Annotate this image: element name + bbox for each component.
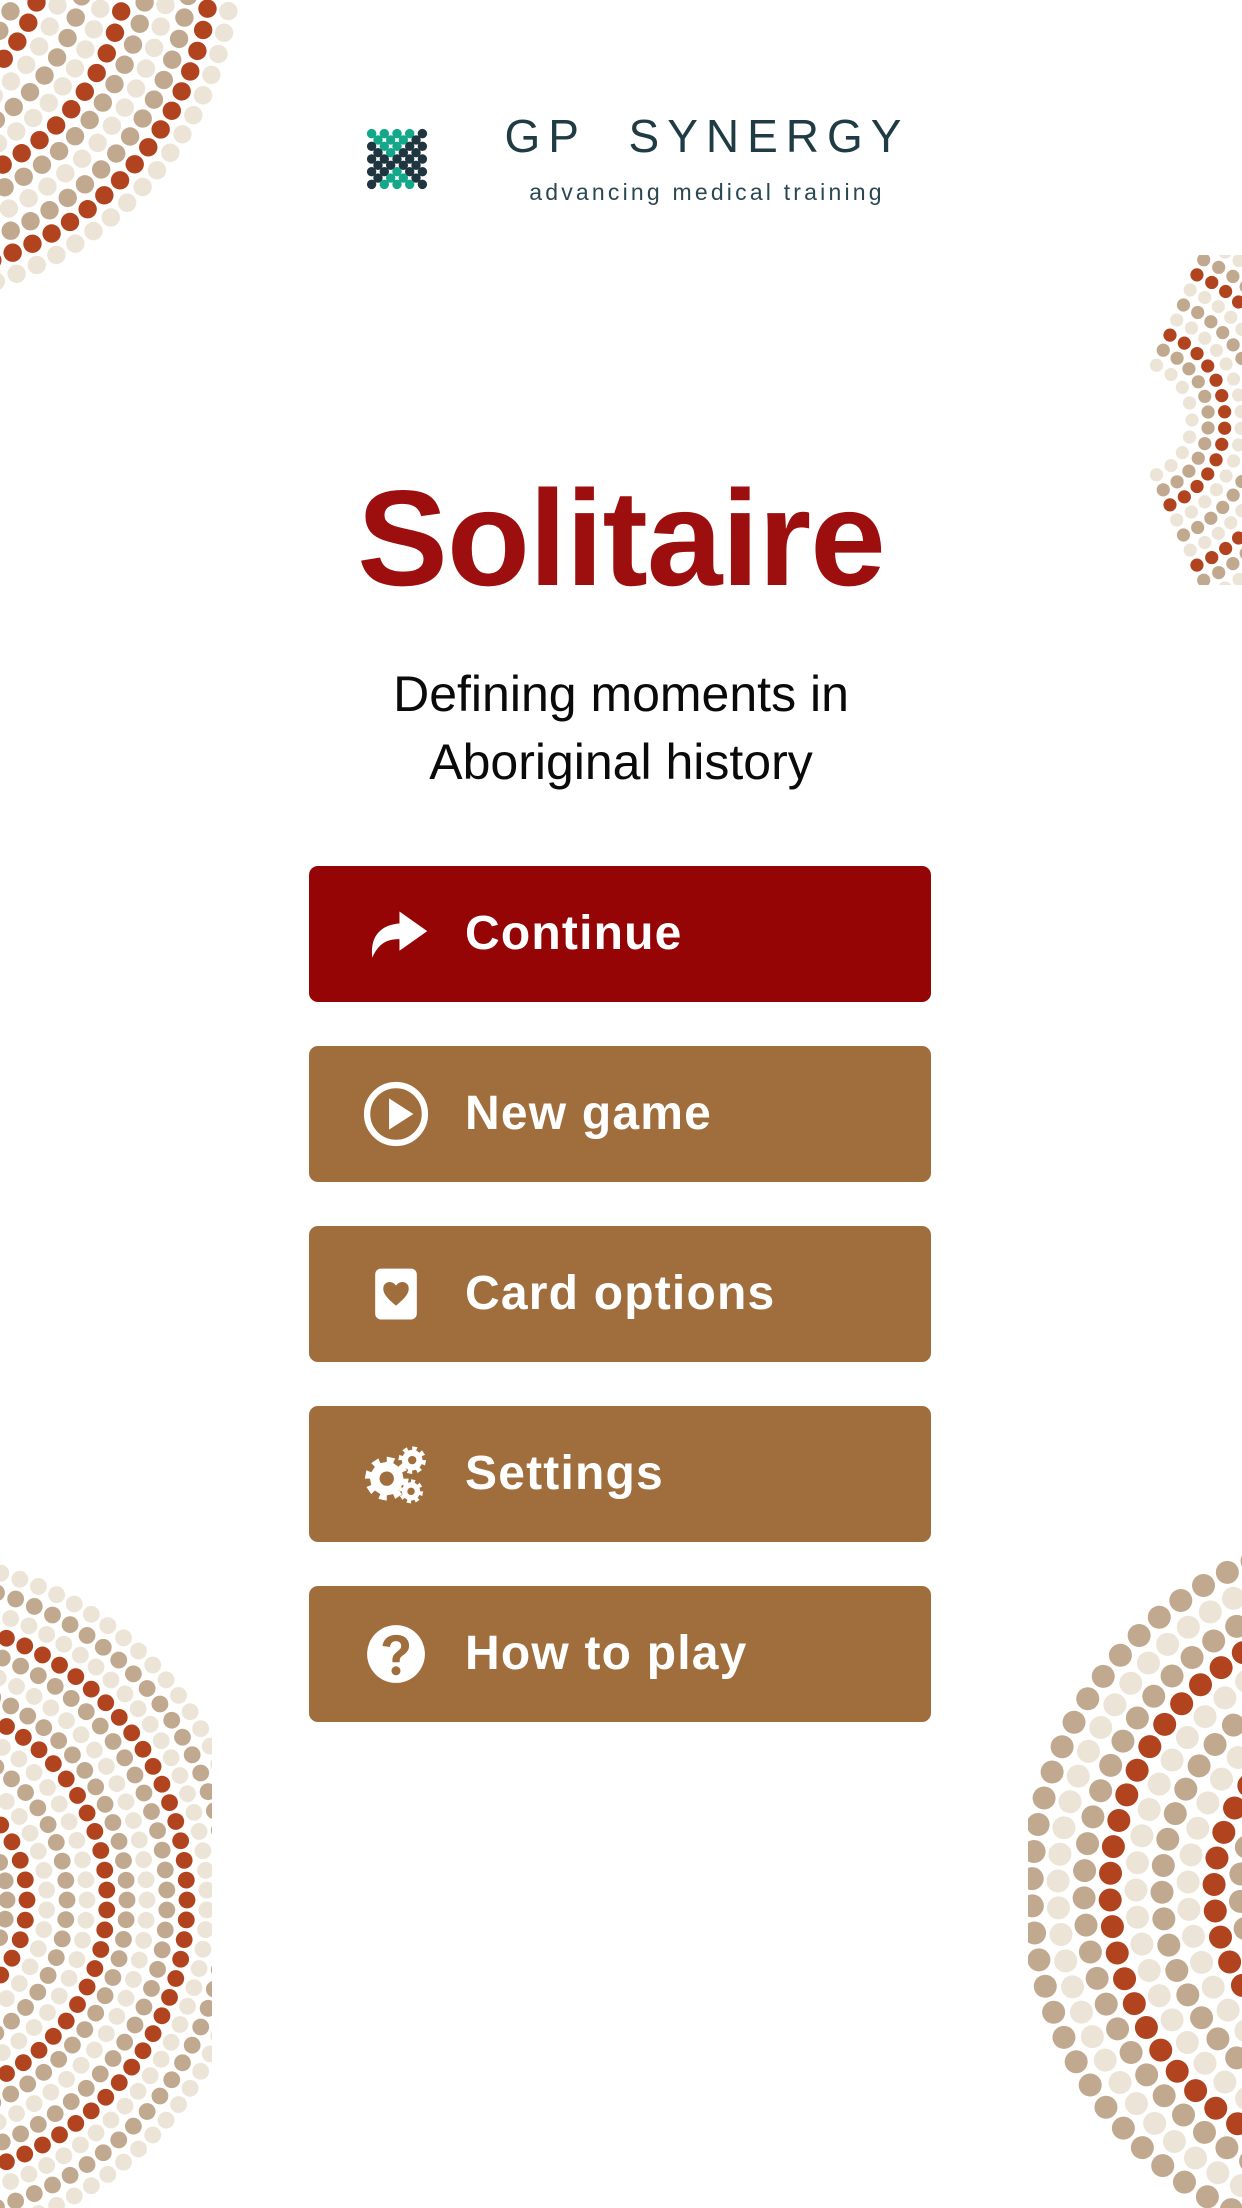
- card-options-button-label: Card options: [465, 1270, 775, 1318]
- new-game-button-label: New game: [465, 1090, 712, 1138]
- forward-arrow-icon: [359, 897, 433, 971]
- settings-button[interactable]: Settings: [309, 1406, 931, 1542]
- brand-name-gp: GP: [505, 110, 587, 162]
- page-title: Solitaire: [0, 470, 1242, 606]
- gp-synergy-diamond-dots-logo: [333, 95, 461, 223]
- main-menu: Continue New game Card options: [309, 866, 931, 1722]
- how-to-play-button[interactable]: How to play: [309, 1586, 931, 1722]
- brand-name: GP Synergy: [505, 113, 910, 159]
- playing-card-heart-icon: [359, 1257, 433, 1331]
- gears-icon: [359, 1437, 433, 1511]
- question-circle-icon: [359, 1617, 433, 1691]
- settings-button-label: Settings: [465, 1450, 664, 1498]
- how-to-play-button-label: How to play: [465, 1630, 748, 1678]
- brand-logo: GP Synergy advancing medical training: [0, 95, 1242, 223]
- page-subtitle: Defining moments in Aboriginal history: [0, 660, 1242, 796]
- continue-button-label: Continue: [465, 910, 683, 958]
- brand-name-synergy: Synergy: [629, 110, 910, 162]
- brand-tagline: advancing medical training: [529, 179, 885, 206]
- card-options-button[interactable]: Card options: [309, 1226, 931, 1362]
- app-screen: GP Synergy advancing medical training So…: [0, 0, 1242, 2208]
- continue-button[interactable]: Continue: [309, 866, 931, 1002]
- page-subtitle-line-2: Aboriginal history: [0, 728, 1242, 796]
- new-game-button[interactable]: New game: [309, 1046, 931, 1182]
- page-subtitle-line-1: Defining moments in: [0, 660, 1242, 728]
- brand-wordmark: GP Synergy advancing medical training: [505, 113, 910, 206]
- play-circle-icon: [359, 1077, 433, 1151]
